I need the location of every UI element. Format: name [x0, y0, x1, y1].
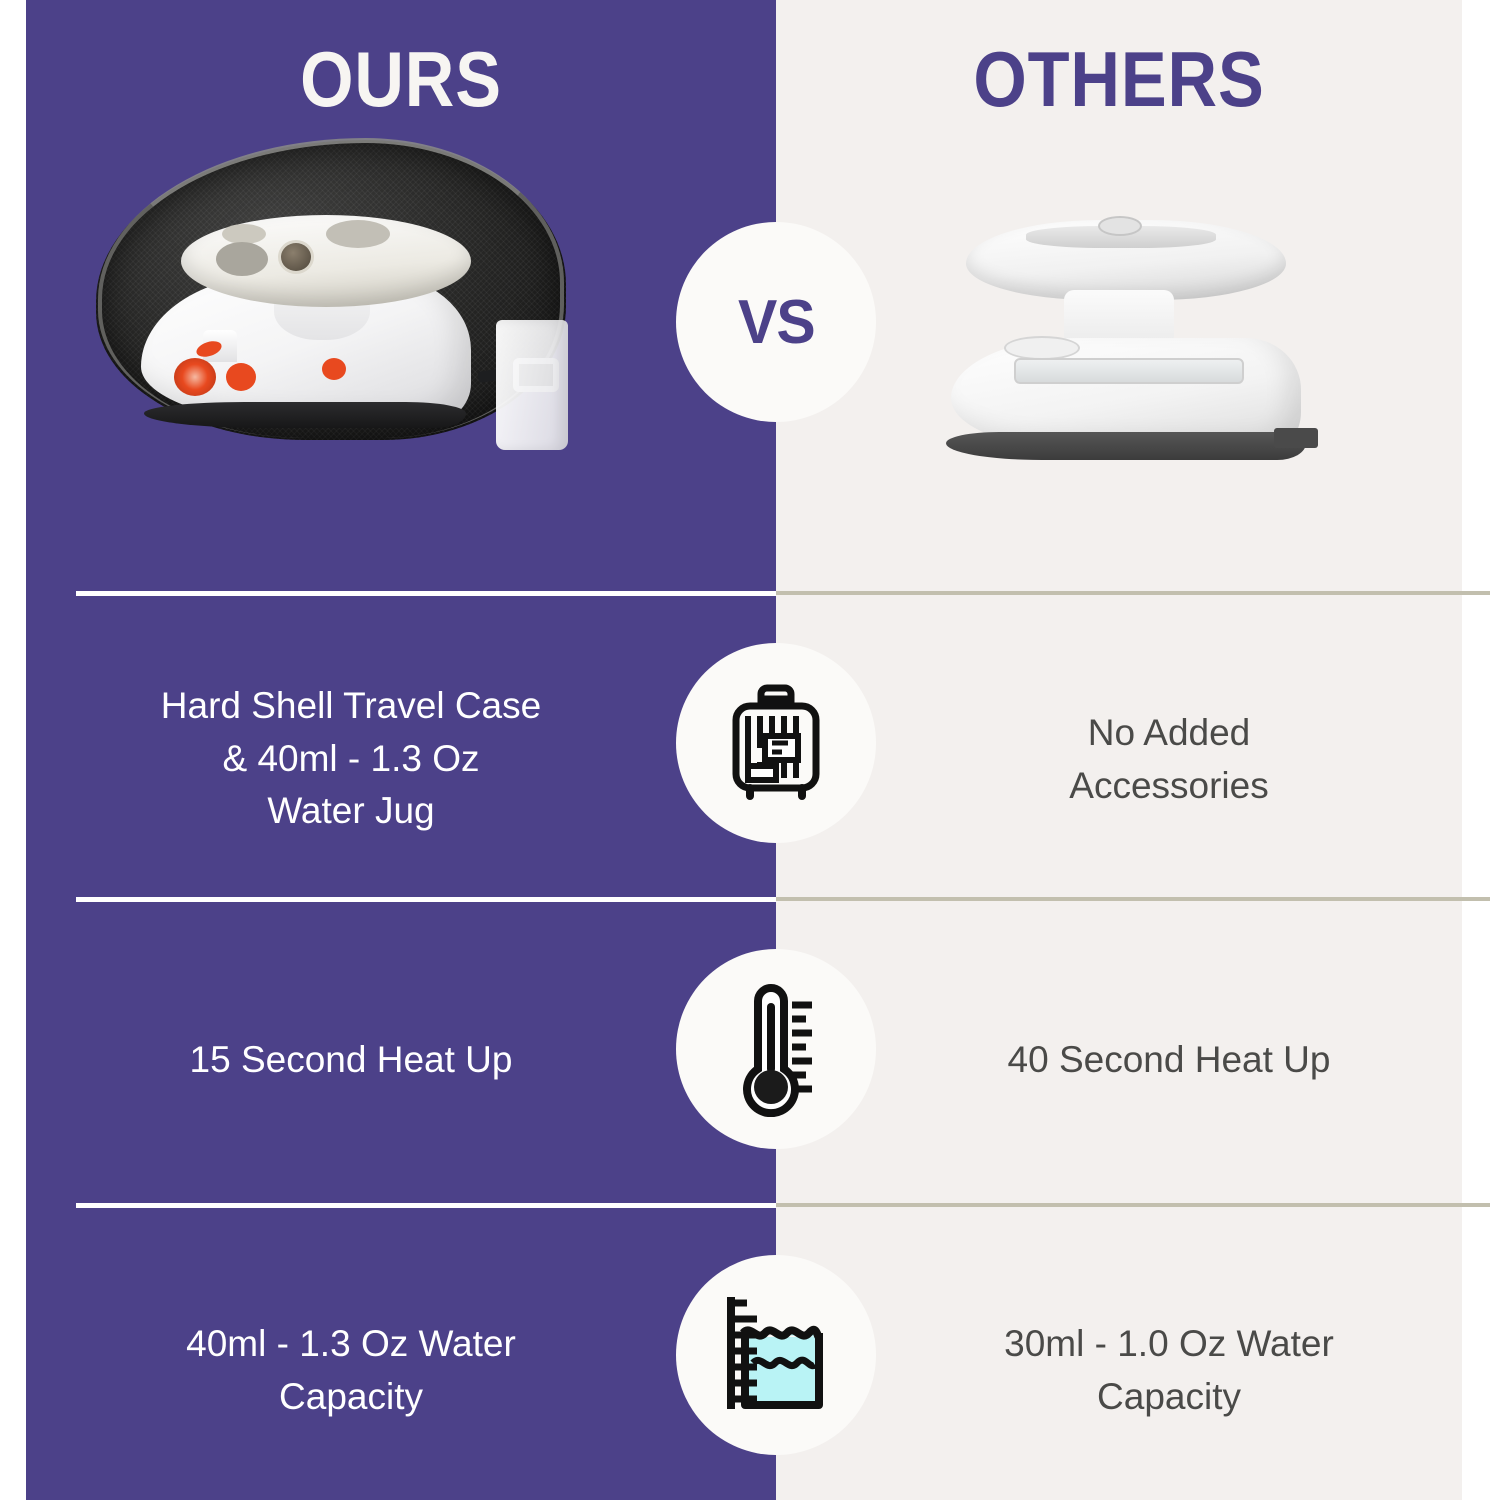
- others-feature-text: 30ml - 1.0 Oz Water Capacity: [876, 1318, 1462, 1423]
- feature-icon-badge: [676, 1255, 876, 1455]
- text-line: No Added: [876, 707, 1462, 760]
- others-iron-soleplate: [946, 432, 1306, 460]
- comparison-infographic: OURS OTHERS VS: [0, 0, 1500, 1500]
- text-line: Capacity: [26, 1371, 676, 1424]
- text-line: Water Jug: [26, 785, 676, 838]
- water-jug: [496, 320, 568, 450]
- others-iron-knob: [1098, 216, 1142, 236]
- text-line: Capacity: [876, 1371, 1462, 1424]
- text-line: & 40ml - 1.3 Oz: [26, 733, 676, 786]
- text-line: Hard Shell Travel Case: [26, 680, 676, 733]
- orange-accent-dot: [322, 358, 346, 380]
- row-divider-left: [76, 591, 776, 596]
- water-level-icon: [713, 1287, 839, 1424]
- iron-vent: [326, 220, 390, 248]
- others-feature-text: 40 Second Heat Up: [876, 1034, 1462, 1087]
- ours-feature-text: 15 Second Heat Up: [26, 1034, 676, 1087]
- suitcase-icon: [717, 678, 835, 809]
- others-product-image: [776, 200, 1462, 550]
- ours-feature-text: Hard Shell Travel Case & 40ml - 1.3 Oz W…: [26, 680, 676, 838]
- iron-temperature-dial: [278, 240, 314, 274]
- others-iron-heel: [1274, 428, 1318, 448]
- feature-icon-badge: [676, 643, 876, 843]
- orange-indicator-light: [174, 358, 216, 396]
- orange-accent-dot: [226, 363, 256, 391]
- text-line: 15 Second Heat Up: [26, 1034, 676, 1087]
- feature-icon-badge: [676, 949, 876, 1149]
- thermometer-icon: [716, 977, 836, 1122]
- ours-heading: OURS: [71, 34, 731, 125]
- row-divider-right: [776, 897, 1490, 901]
- row-divider-left: [76, 1203, 776, 1208]
- vs-badge: VS: [676, 222, 876, 422]
- text-line: Accessories: [876, 760, 1462, 813]
- others-feature-text: No Added Accessories: [876, 707, 1462, 812]
- text-line: 40 Second Heat Up: [876, 1034, 1462, 1087]
- ours-feature-text: 40ml - 1.3 Oz Water Capacity: [26, 1318, 676, 1423]
- row-divider-right: [776, 1203, 1490, 1207]
- row-divider-left: [76, 897, 776, 902]
- text-line: 40ml - 1.3 Oz Water: [26, 1318, 676, 1371]
- iron-knob: [216, 242, 268, 276]
- row-divider-right: [776, 591, 1490, 595]
- iron-soleplate: [144, 402, 466, 428]
- ours-product-image: [26, 120, 776, 570]
- text-line: 30ml - 1.0 Oz Water: [876, 1318, 1462, 1371]
- others-iron-water-window: [1014, 358, 1244, 384]
- iron-knob-upper: [222, 224, 266, 244]
- vs-label: VS: [738, 287, 815, 358]
- others-heading: OTHERS: [817, 34, 1421, 125]
- others-iron-side-knob: [1004, 336, 1080, 360]
